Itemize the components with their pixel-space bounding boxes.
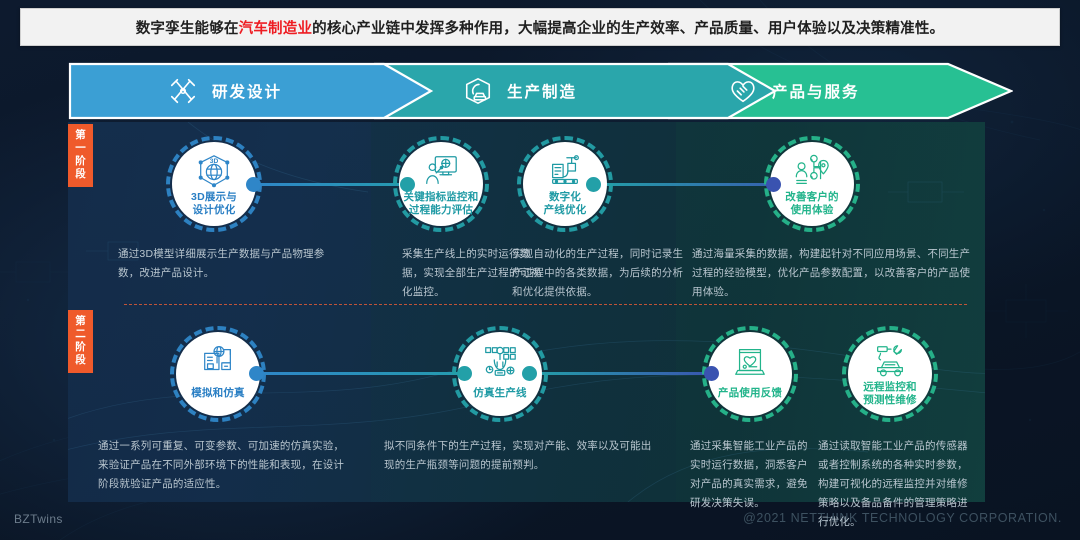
node-title-2-2: 仿真生产线 bbox=[473, 387, 527, 400]
stage-badge-1-c2: 阶 bbox=[70, 155, 91, 168]
node-title-2-3: 产品使用反馈 bbox=[718, 387, 782, 400]
footer-brand: BZTwins bbox=[14, 512, 63, 526]
node-3d-display[interactable]: 3D 3D展示与 设计优化 bbox=[172, 142, 256, 226]
robot-arm-panel-icon bbox=[481, 342, 519, 380]
node-desc-1-4: 通过海量采集的数据，构建起针对不同应用场景、不同生产过程的经验模型，优化产品参数… bbox=[692, 245, 980, 302]
3d-globe-model-icon: 3D bbox=[195, 152, 233, 190]
node-title-1-1: 3D展示与 设计优化 bbox=[191, 191, 237, 216]
header-highlight: 汽车制造业 bbox=[239, 21, 313, 37]
stage-badge-1[interactable]: 第 一 阶 段 bbox=[68, 124, 93, 187]
stage-badge-2-c1: 二 bbox=[70, 328, 91, 341]
header-banner: 数字孪生能够在汽车制造业的核心产业链中发挥多种作用，大幅提高企业的生产效率、产品… bbox=[20, 8, 1060, 46]
production-line-icon bbox=[546, 152, 584, 190]
node-desc-2-1: 通过一系列可重复、可变参数、可加速的仿真实验，来验证产品在不同外部环境下的性能和… bbox=[98, 437, 350, 494]
node-desc-2-2: 拟不同条件下的生产过程，实现对产能、效率以及可能出现的生产瓶颈等问题的提前预判。 bbox=[384, 437, 652, 475]
stage-badge-2[interactable]: 第 二 阶 段 bbox=[68, 310, 93, 373]
car-wrench-icon bbox=[871, 342, 909, 380]
node-title-2-4: 远程监控和 预测性维修 bbox=[863, 381, 917, 406]
node-title-1-4: 改善客户的 使用体验 bbox=[785, 191, 839, 216]
connector-dot-2-c bbox=[522, 366, 537, 381]
stage-badge-2-c3: 段 bbox=[70, 354, 91, 367]
node-title-1-2: 关键指标监控和 过程能力评估 bbox=[404, 191, 479, 216]
monitor-analyst-icon bbox=[422, 152, 460, 190]
node-title-2-1: 模拟和仿真 bbox=[191, 387, 245, 400]
laptop-heart-icon bbox=[731, 342, 769, 380]
connector-dot-2-d bbox=[704, 366, 719, 381]
connector-dot-1-b bbox=[400, 177, 415, 192]
connector-2-2 bbox=[528, 372, 718, 375]
connector-dot-2-a bbox=[249, 366, 264, 381]
stage-badge-1-c3: 段 bbox=[70, 168, 91, 181]
connector-dot-1-c bbox=[586, 177, 601, 192]
node-desc-1-3: 实现自动化的生产过程，同时记录生产过程中的各类数据，为后续的分析和优化提供依据。 bbox=[512, 245, 684, 302]
slide-canvas: 数字孪生能够在汽车制造业的核心产业链中发挥多种作用，大幅提高企业的生产效率、产品… bbox=[0, 0, 1080, 540]
customer-location-icon bbox=[793, 152, 831, 190]
node-desc-2-4: 通过读取智能工业产品的传感器或者控制系统的各种实时参数，构建可视化的远程监控并对… bbox=[818, 437, 978, 532]
svg-text:3D: 3D bbox=[210, 158, 219, 165]
node-customer-experience[interactable]: 改善客户的 使用体验 bbox=[770, 142, 854, 226]
connector-dot-1-a bbox=[246, 177, 261, 192]
header-text-after: 的核心产业链中发挥多种作用，大幅提高企业的生产效率、产品质量、用户体验以及决策精… bbox=[312, 21, 944, 37]
node-title-1-3: 数字化 产线优化 bbox=[544, 191, 587, 216]
simulation-screen-icon bbox=[199, 342, 237, 380]
node-desc-1-1: 通过3D模型详细展示生产数据与产品物理参数，改进产品设计。 bbox=[118, 245, 336, 283]
stage-badge-2-c0: 第 bbox=[70, 315, 91, 328]
connector-dot-2-b bbox=[457, 366, 472, 381]
connector-dot-1-d bbox=[766, 177, 781, 192]
stage-divider bbox=[124, 304, 967, 305]
node-desc-2-3: 通过采集智能工业产品的实时运行数据，洞悉客户对产品的真实需求，避免研发决策失误。 bbox=[690, 437, 808, 513]
header-text-before: 数字孪生能够在 bbox=[136, 21, 239, 37]
arrow-shapes bbox=[68, 62, 1013, 120]
node-remote-maintenance[interactable]: 远程监控和 预测性维修 bbox=[848, 332, 932, 416]
phase-arrow-ribbon: 研发设计 生产制造 产品与服务 bbox=[68, 62, 1013, 120]
stage-badge-2-c2: 阶 bbox=[70, 341, 91, 354]
stage-badge-1-c1: 一 bbox=[70, 142, 91, 155]
header-text: 数字孪生能够在汽车制造业的核心产业链中发挥多种作用，大幅提高企业的生产效率、产品… bbox=[136, 17, 945, 38]
stage-badge-1-c0: 第 bbox=[70, 129, 91, 142]
node-product-feedback[interactable]: 产品使用反馈 bbox=[708, 332, 792, 416]
arrow-shape-1[interactable] bbox=[70, 64, 431, 118]
arrow-shape-2[interactable] bbox=[378, 64, 775, 118]
node-simulation[interactable]: 模拟和仿真 bbox=[176, 332, 260, 416]
